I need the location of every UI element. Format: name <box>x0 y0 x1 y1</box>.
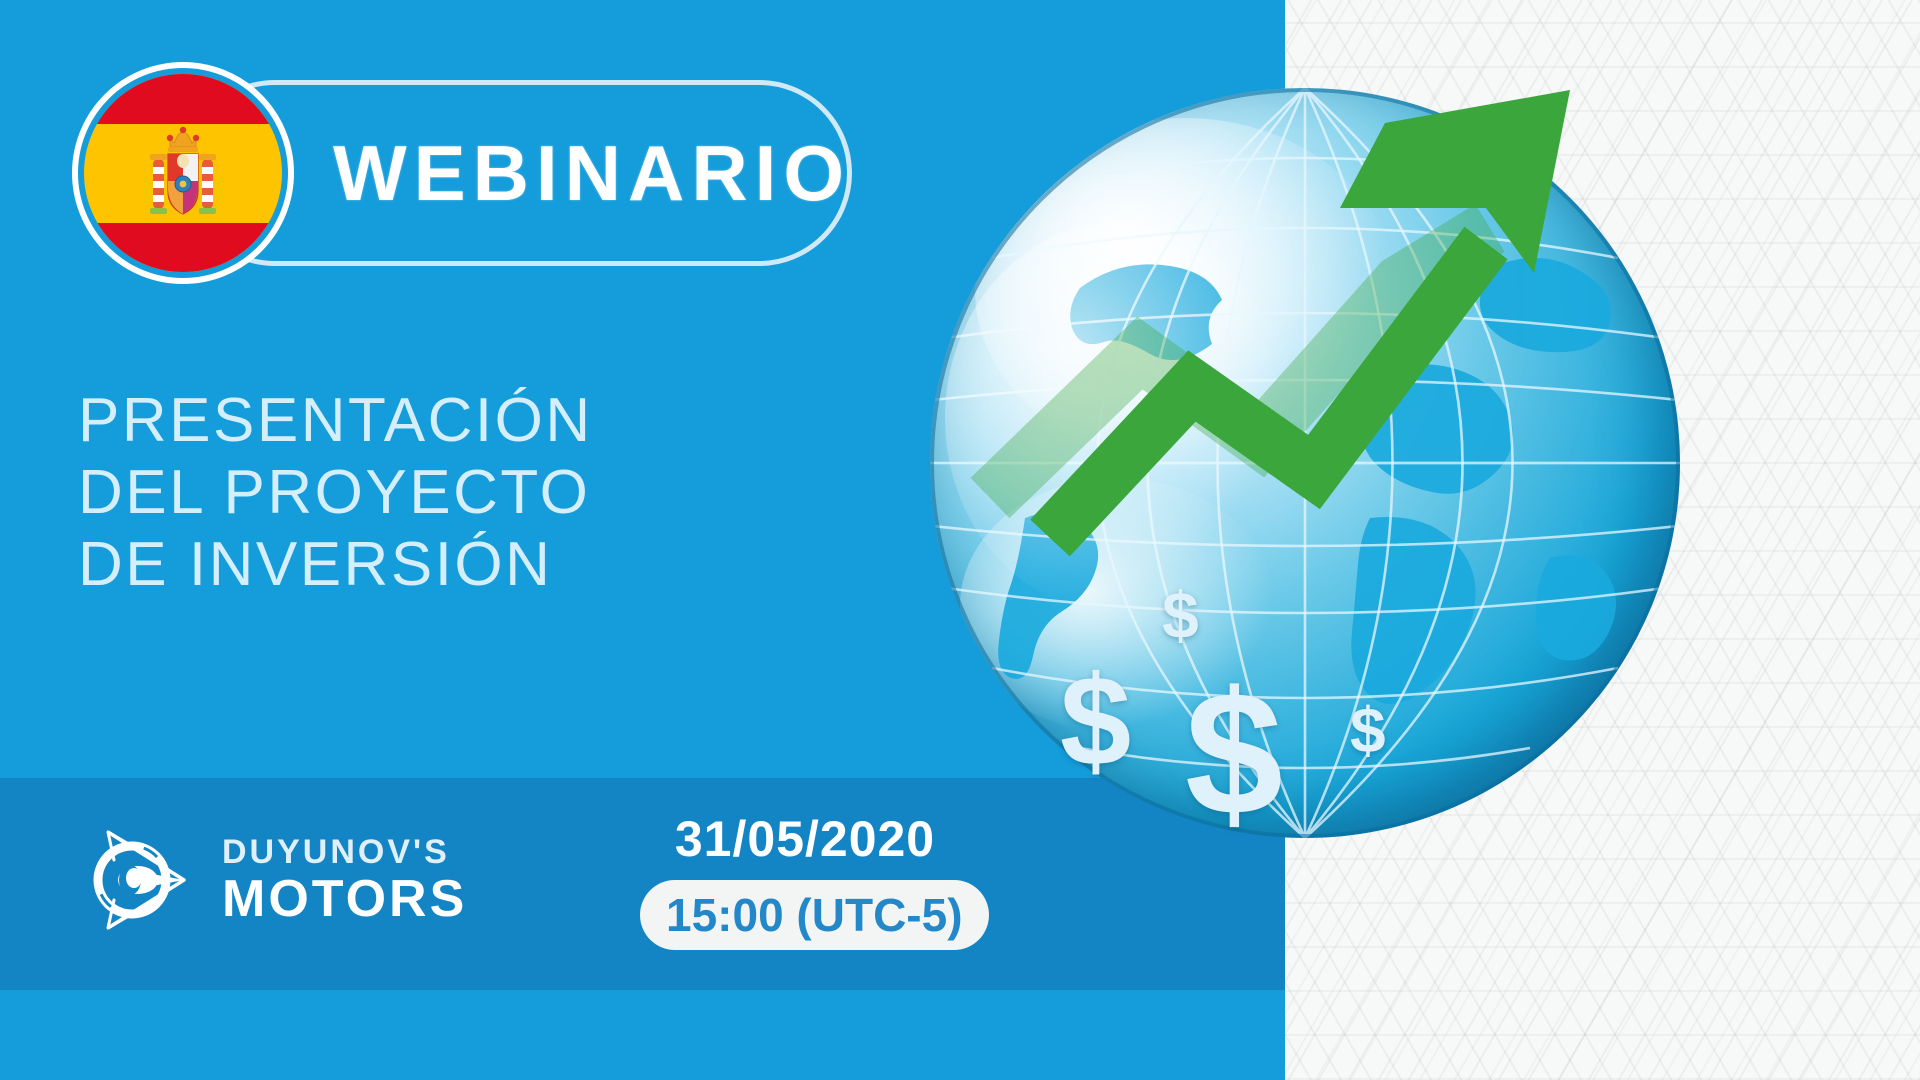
brand-wordmark: DUYUNOV'S MOTORS <box>222 835 467 925</box>
background-blue-bottom <box>0 990 1285 1080</box>
subtitle-line-1: PRESENTACIÓN <box>78 385 593 457</box>
brand-lockup: DUYUNOV'S MOTORS <box>80 820 467 940</box>
event-time-badge: 15:00 (UTC-5) <box>640 880 989 950</box>
page-title: WEBINARIO <box>333 134 851 212</box>
dollar-sign-large-center: $ <box>1185 666 1283 842</box>
brand-line-2: MOTORS <box>222 873 467 925</box>
duyunov-orbit-logo-icon <box>80 820 200 940</box>
dollar-sign-small-right: $ <box>1350 698 1386 762</box>
dollar-sign-large-left: $ <box>1060 658 1131 786</box>
event-date: 31/05/2020 <box>640 810 970 868</box>
subtitle-line-2: DEL PROYECTO <box>78 457 593 529</box>
brand-line-1: DUYUNOV'S <box>222 835 467 869</box>
dollar-sign-small-left: $ <box>1162 582 1199 648</box>
subtitle-block: PRESENTACIÓN DEL PROYECTO DE INVERSIÓN <box>78 385 593 601</box>
spain-flag-icon <box>72 62 294 284</box>
globe-graphic: $ $ $ $ <box>930 68 1690 848</box>
coat-of-arms-icon <box>140 121 226 225</box>
flag-inner <box>84 74 282 272</box>
webinar-banner: WEBINARIO <box>0 0 1920 1080</box>
green-growth-arrow-icon <box>930 68 1690 848</box>
flag-stripe-top <box>84 74 282 124</box>
subtitle-line-3: DE INVERSIÓN <box>78 529 593 601</box>
schedule-block: 31/05/2020 15:00 (UTC-5) <box>640 810 970 950</box>
flag-stripe-bottom <box>84 223 282 273</box>
